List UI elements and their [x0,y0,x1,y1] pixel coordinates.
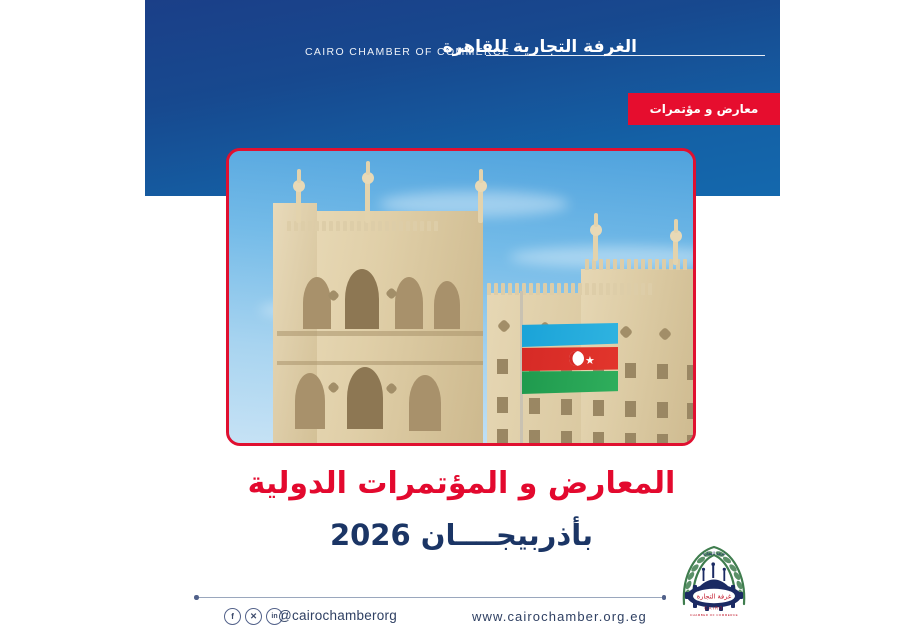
azerbaijan-flag: ★ [522,323,618,395]
window [593,400,604,416]
window [625,401,636,417]
poster-canvas: CAIRO CHAMBER OF COMMERCE الغرفة التجاري… [0,0,923,630]
logo-latin-cairo: CAIRO [704,606,723,611]
window [657,434,668,443]
window [687,435,693,443]
window [561,399,572,415]
headline-line-2: بأذربيجــــان 2026 [0,518,923,552]
cairo-chamber-of-commerce-logo: غرفة التجارة [668,538,760,626]
crescent-icon [569,351,584,366]
arch [395,277,423,329]
flag-stripe-green [522,371,618,395]
arch [409,375,441,431]
window [687,365,693,380]
social-handle[interactable]: @cairochamberorg [278,608,397,623]
crenellation-row [287,221,438,231]
logo-arabic-name: غرفة التجارة [697,592,732,600]
website-url[interactable]: www.cairochamber.org.eg [472,609,647,624]
x-twitter-icon[interactable]: ✕ [245,608,262,625]
social-links: f ✕ in [224,608,283,625]
window [529,430,540,443]
window [687,403,693,419]
window [497,359,508,374]
arch [345,269,379,329]
spire [593,233,598,261]
arch [303,277,331,329]
crenellation-row [585,259,687,270]
window [497,429,508,443]
banner-arabic-title: الغرفة التجارية للقاهرة [443,37,637,57]
category-badge-label: معارض و مؤتمرات [650,102,759,116]
star-icon: ★ [585,355,595,366]
footer-divider [195,597,665,598]
arch [347,367,383,429]
photo-frame: ★ [226,148,696,446]
facebook-icon[interactable]: f [224,608,241,625]
window [625,433,636,443]
spire [478,189,483,223]
spire [296,189,301,223]
baku-government-house-photo: ★ [229,151,693,443]
arch [295,373,325,429]
cornice-band [277,331,483,336]
cornice-band [277,361,483,365]
logo-arabic-top: غرفة التجارة [702,552,726,557]
window [497,397,508,413]
window [529,398,540,414]
category-badge[interactable]: معارض و مؤتمرات [628,93,780,125]
window [657,364,668,379]
spire [365,181,370,223]
window [625,363,636,378]
arch [434,281,460,329]
window [657,402,668,418]
window [593,432,604,443]
logo-latin-sub: CHAMBER OF COMMERCE [690,613,738,617]
crenellation-row [487,283,652,295]
window [561,431,572,443]
headline-line-1: المعارض و المؤتمرات الدولية [0,466,923,501]
spire [673,239,678,265]
flag-stripe-blue [522,323,618,347]
